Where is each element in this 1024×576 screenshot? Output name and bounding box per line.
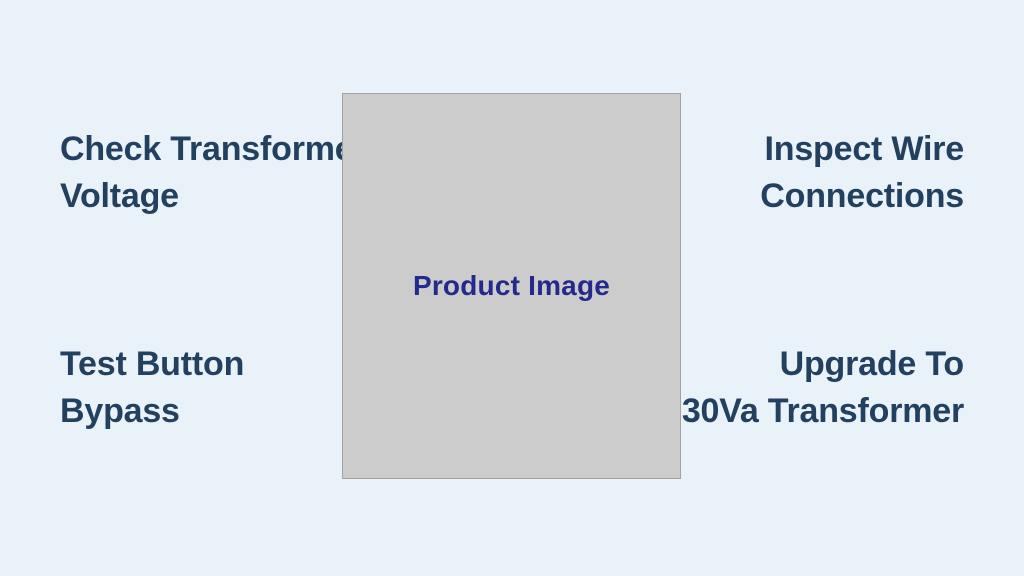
- callout-bottom-right-line-1: Upgrade To: [682, 341, 964, 388]
- product-image-placeholder: Product Image: [342, 93, 681, 479]
- callout-inspect-wire-connections: Inspect Wire Connections: [760, 126, 964, 220]
- callout-top-right-line-1: Inspect Wire: [760, 126, 964, 173]
- callout-upgrade-to-30va-transformer: Upgrade To 30Va Transformer: [682, 341, 964, 435]
- callout-top-left-line-1: Check Transformer: [60, 126, 367, 173]
- product-image-label: Product Image: [413, 272, 610, 300]
- callout-bottom-right-line-2: 30Va Transformer: [682, 388, 964, 435]
- callout-test-button-bypass: Test Button Bypass: [60, 341, 244, 435]
- infographic-canvas: Check Transformer Voltage Inspect Wire C…: [0, 0, 1024, 576]
- callout-check-transformer-voltage: Check Transformer Voltage: [60, 126, 367, 220]
- callout-bottom-left-line-1: Test Button: [60, 341, 244, 388]
- callout-top-left-line-2: Voltage: [60, 173, 367, 220]
- callout-bottom-left-line-2: Bypass: [60, 388, 244, 435]
- callout-top-right-line-2: Connections: [760, 173, 964, 220]
